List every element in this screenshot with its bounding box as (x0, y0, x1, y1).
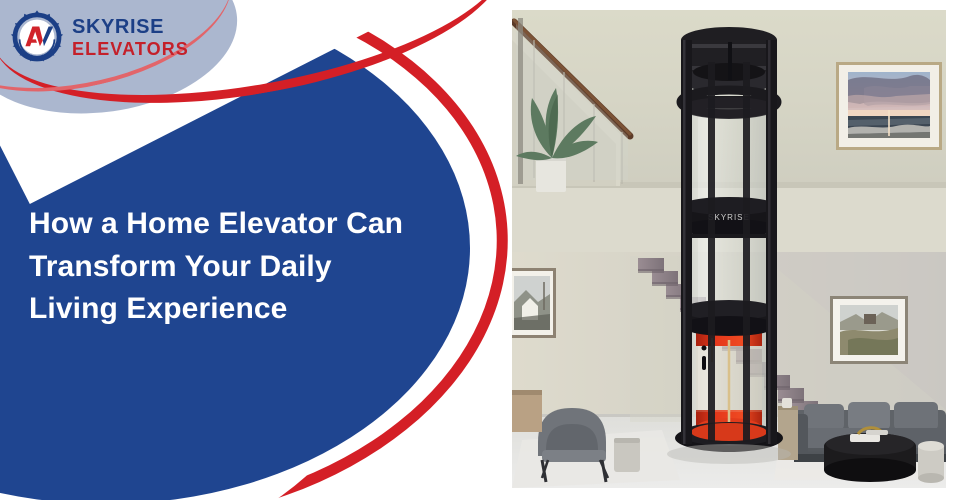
framed-seascape-painting (836, 62, 942, 150)
headline: How a Home Elevator Can Transform Your D… (29, 203, 459, 331)
headline-line-3: Living Experience (29, 288, 459, 331)
brand-wordmark: SKYRISE ELEVATORS (72, 17, 189, 58)
hero-photo: SKYRISE (512, 10, 946, 488)
framed-house-painting (512, 268, 556, 338)
brand-logo[interactable]: SKYRISE ELEVATORS (8, 8, 189, 66)
home-interior-illustration: SKYRISE (512, 10, 946, 488)
blog-banner: SKYRISE ELEVATORS How a Home Elevator Ca… (0, 0, 960, 500)
framed-landscape-painting (830, 296, 908, 364)
cylindrical-glass-elevator: SKYRISE (675, 27, 783, 452)
brand-name-line1: SKYRISE (72, 17, 189, 37)
gear-av-monogram-icon (8, 8, 66, 66)
headline-line-2: Transform Your Daily (29, 246, 459, 289)
cylinder-side-table (918, 441, 944, 483)
headline-line-1: How a Home Elevator Can (29, 203, 459, 246)
side-stool (614, 438, 640, 472)
left-graphic-panel: SKYRISE ELEVATORS How a Home Elevator Ca… (0, 0, 512, 500)
brand-name-line2: ELEVATORS (72, 40, 189, 58)
